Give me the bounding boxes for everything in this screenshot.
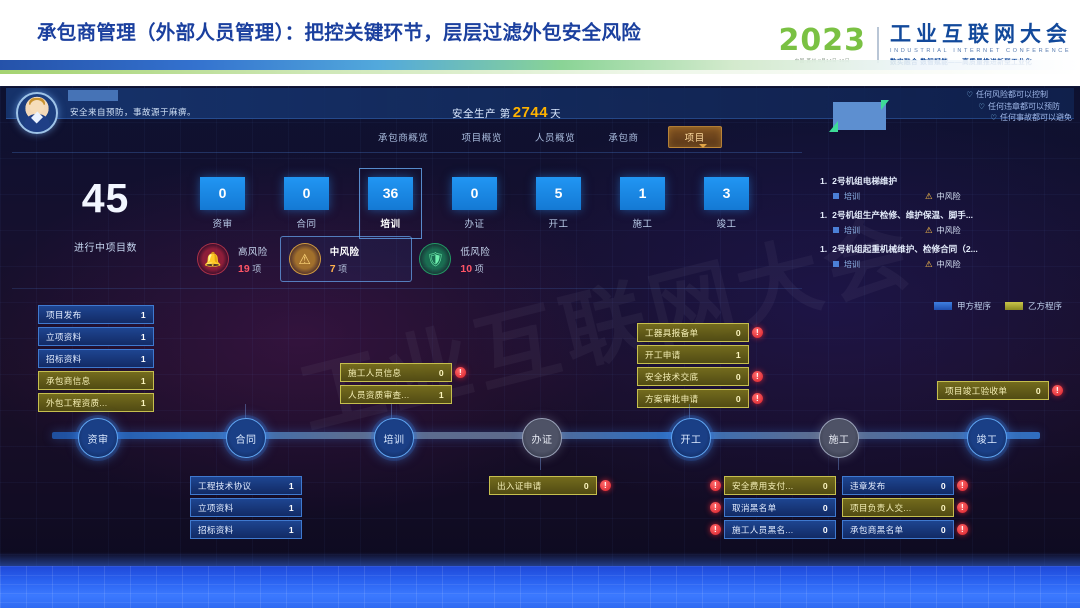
list-item-risk: ⚠中风险	[925, 259, 961, 270]
stage-label: 培训	[368, 216, 413, 230]
flow-card[interactable]: 外包工程资质...1	[38, 393, 154, 412]
flow-card[interactable]: 承包商信息1	[38, 371, 154, 390]
axis-tick	[838, 456, 839, 470]
legend-item-party-a: 甲方程序	[934, 300, 991, 312]
flow-col-left: 安全费用支付...0! 取消黑名单0! 施工人员黑名...0!	[724, 476, 836, 542]
tab-project-overview[interactable]: 项目概览	[458, 127, 506, 147]
flow-group-shenshen-above: 项目发布1 立项资料1 招标资料1 承包商信息1 外包工程资质...1	[38, 305, 154, 415]
alarm-bell-icon: 🔔	[197, 243, 229, 275]
flow-card[interactable]: 承包商黑名单0!	[842, 520, 954, 539]
risk-unit: 项	[338, 264, 347, 274]
warning-triangle-icon: ⚠	[925, 225, 933, 235]
axis-tick	[689, 404, 690, 418]
list-item-index: 1.	[820, 210, 827, 220]
header-slogan: 安全来自预防，事故源于麻痹。	[70, 106, 196, 118]
stage-value: 3	[704, 177, 749, 210]
flow-card[interactable]: 施工人员信息0!	[340, 363, 452, 382]
list-item-stage: 培训	[833, 191, 925, 202]
list-item-stage: 培训	[833, 259, 925, 270]
list-item-risk: ⚠中风险	[925, 191, 961, 202]
risk-label: 高风险	[238, 244, 268, 258]
safe-production-days: 2744	[511, 104, 550, 121]
stage-square-icon	[833, 261, 839, 267]
total-projects: 45 进行中项目数	[74, 178, 137, 254]
alert-badge[interactable]: !	[957, 480, 968, 491]
list-item-name: 2号机组生产检修、维护保温、脚手...	[832, 210, 973, 220]
flow-card[interactable]: 违章发布0!	[842, 476, 954, 495]
list-item-name: 2号机组起重机械维护、检修合同（2...	[832, 244, 978, 254]
flow-card[interactable]: 取消黑名单0!	[724, 498, 836, 517]
stage-value: 1	[620, 177, 665, 210]
tab-personnel-overview[interactable]: 人员概览	[531, 127, 579, 147]
stage-value: 36	[368, 177, 413, 210]
timeline-node-banzheng[interactable]: 办证	[522, 418, 562, 458]
flow-card[interactable]: 出入证申请0!	[489, 476, 597, 495]
logo-cn-name: 工业互联网大会	[890, 24, 1072, 45]
warning-triangle-icon: ⚠	[925, 191, 933, 201]
flow-card[interactable]: 招标资料1	[38, 349, 154, 368]
stage-square-icon	[833, 227, 839, 233]
flow-card[interactable]: 立项资料1	[38, 327, 154, 346]
tab-contractor[interactable]: 承包商	[604, 127, 642, 147]
flow-card[interactable]: 安全技术交底0!	[637, 367, 749, 386]
risk-card-low[interactable]: 🛡 低风险 10 项	[412, 238, 502, 280]
timeline-node-shenshen[interactable]: 资审	[78, 418, 118, 458]
tab-project[interactable]: 项目	[668, 126, 722, 148]
check-icon: ♡	[966, 90, 973, 99]
logo-divider	[877, 27, 879, 63]
risk-card-high[interactable]: 🔔 高风险 19 项	[190, 238, 280, 280]
risk-label: 中风险	[330, 244, 360, 258]
page-title: 承包商管理（外部人员管理）：把控关键环节，层层过滤外包安全风险	[37, 16, 641, 45]
alert-badge[interactable]: !	[1052, 385, 1063, 396]
header-name-placeholder	[68, 90, 118, 101]
timeline-node-shigong[interactable]: 施工	[819, 418, 859, 458]
logo-en-name: INDUSTRIAL INTERNET CONFERENCE	[890, 48, 1072, 54]
pledge-list: ♡任何风险都可以控制 ♡任何违章都可以预防 ♡任何事故都可以避免	[966, 89, 1072, 124]
stage-label: 合同	[284, 216, 329, 230]
flow-card[interactable]: 人员资质审查...1	[340, 385, 452, 404]
risk-label: 低风险	[460, 244, 490, 258]
flow-card[interactable]: 工器具报备单0!	[637, 323, 749, 342]
stage-label: 竣工	[704, 216, 749, 230]
stage-card-banzheng[interactable]: 0 办证	[452, 177, 497, 230]
flow-card[interactable]: 方案审批申请0!	[637, 389, 749, 408]
timeline-node-kaigong[interactable]: 开工	[671, 418, 711, 458]
flow-card[interactable]: 安全费用支付...0!	[724, 476, 836, 495]
stage-label: 资审	[200, 216, 245, 230]
flow-group-kaigong-above: 工器具报备单0! 开工申请1 安全技术交底0! 方案审批申请0!	[637, 323, 749, 411]
flow-legend: 甲方程序 乙方程序	[934, 300, 1062, 312]
pledge-label: 任何事故都可以避免	[1000, 113, 1072, 122]
list-item-name: 2号机组电梯维护	[832, 176, 897, 186]
check-icon: ♡	[990, 113, 997, 122]
legend-item-party-b: 乙方程序	[1005, 300, 1062, 312]
alert-badge[interactable]: !	[752, 327, 763, 338]
flow-card[interactable]: 项目竣工验收单0!	[937, 381, 1049, 400]
flow-card[interactable]: 立项资料1	[190, 498, 302, 517]
list-item-index: 1.	[820, 244, 827, 254]
flow-card[interactable]: 开工申请1	[637, 345, 749, 364]
flow-col-right: 违章发布0! 项目负责人交...0! 承包商黑名单0!	[842, 476, 954, 542]
risk-unit: 项	[475, 264, 484, 274]
safe-production-label: 安全生产	[452, 108, 496, 120]
header-gradient-rule-2	[0, 70, 1080, 74]
stage-card-peixun[interactable]: 36 培训	[368, 177, 413, 230]
list-item[interactable]: 1.2号机组起重机械维护、检修合同（2... 培训 ⚠中风险	[820, 243, 1072, 270]
risk-count: 10	[460, 263, 472, 275]
flow-card[interactable]: 施工人员黑名...0!	[724, 520, 836, 539]
stage-card-hetong[interactable]: 0 合同	[284, 177, 329, 230]
stage-card-shenshen[interactable]: 0 资审	[200, 177, 245, 230]
safe-production-prefix: 第	[500, 108, 511, 120]
total-projects-value: 45	[74, 178, 137, 218]
list-item[interactable]: 1.2号机组生产检修、维护保温、脚手... 培训 ⚠中风险	[820, 209, 1072, 236]
stage-square-icon	[833, 193, 839, 199]
list-item-stage: 培训	[833, 225, 925, 236]
safe-shield-icon: 🛡	[419, 243, 451, 275]
check-icon: ♡	[978, 102, 985, 111]
video-thumbnail[interactable]	[833, 102, 886, 130]
timeline-node-peixun[interactable]: 培训	[374, 418, 414, 458]
risk-unit: 项	[252, 264, 261, 274]
flow-group-banzheng-below: 出入证申请0!	[489, 476, 597, 498]
alert-badge[interactable]: !	[710, 480, 721, 491]
flow-card[interactable]: 招标资料1	[190, 520, 302, 539]
project-list: 1.2号机组电梯维护 培训 ⚠中风险 1.2号机组生产检修、维护保温、脚手...…	[820, 175, 1072, 277]
safe-production-counter: 安全生产 第2744天	[452, 104, 561, 121]
flow-group-hetong-below: 工程技术协议1 立项资料1 招标资料1	[190, 476, 302, 542]
stage-card-shigong[interactable]: 1 施工	[620, 177, 665, 230]
header-gradient-rule	[0, 60, 1080, 70]
alert-badge[interactable]: !	[710, 524, 721, 535]
alert-badge[interactable]: !	[455, 367, 466, 378]
stage-card-kaigong[interactable]: 5 开工	[536, 177, 581, 230]
axis-tick	[245, 404, 246, 418]
list-item[interactable]: 1.2号机组电梯维护 培训 ⚠中风险	[820, 175, 1072, 202]
stage-value: 5	[536, 177, 581, 210]
safe-production-unit: 天	[550, 108, 561, 120]
pledge-item: ♡任何事故都可以避免	[966, 112, 1072, 124]
axis-tick	[540, 456, 541, 470]
flow-card[interactable]: 项目发布1	[38, 305, 154, 324]
legend-swatch	[934, 302, 952, 310]
slide-header: 承包商管理（外部人员管理）：把控关键环节，层层过滤外包安全风险 2023 中国·…	[0, 0, 1080, 88]
total-projects-label: 进行中项目数	[74, 239, 137, 254]
slide-page: 承包商管理（外部人员管理）：把控关键环节，层层过滤外包安全风险 2023 中国·…	[0, 0, 1080, 608]
alert-badge[interactable]: !	[710, 502, 721, 513]
stage-stat-row: 0 资审 0 合同 36 培训 0 办证 5 开工 1 施工	[200, 177, 749, 230]
flow-group-shigong-below: 安全费用支付...0! 取消黑名单0! 施工人员黑名...0! 违章发布0! 项…	[724, 476, 954, 542]
floor-grid	[0, 566, 1080, 608]
stage-value: 0	[200, 177, 245, 210]
stage-label: 开工	[536, 216, 581, 230]
stage-value: 0	[284, 177, 329, 210]
pledge-item: ♡任何风险都可以控制	[966, 89, 1072, 101]
axis-tick	[391, 404, 392, 418]
timeline-node-jungong[interactable]: 竣工	[967, 418, 1007, 458]
flow-group-peixun-above: 施工人员信息0! 人员资质审查...1	[340, 363, 452, 407]
legend-swatch	[1005, 302, 1023, 310]
stage-value: 0	[452, 177, 497, 210]
list-item-index: 1.	[820, 176, 827, 186]
pledge-label: 任何风险都可以控制	[976, 90, 1048, 99]
logo-year: 2023	[779, 26, 867, 56]
timeline-node-hetong[interactable]: 合同	[226, 418, 266, 458]
list-item-risk: ⚠中风险	[925, 225, 961, 236]
alert-badge[interactable]: !	[752, 393, 763, 404]
flow-card[interactable]: 项目负责人交...0!	[842, 498, 954, 517]
pledge-item: ♡任何违章都可以预防	[966, 101, 1072, 113]
avatar	[16, 92, 58, 134]
alert-badge[interactable]: !	[957, 502, 968, 513]
nav-tabs: 承包商概览 项目概览 人员概览 承包商 项目	[374, 126, 722, 148]
risk-card-medium[interactable]: ⚠ 中风险 7 项	[280, 236, 413, 282]
alert-badge[interactable]: !	[752, 371, 763, 382]
warning-triangle-icon: ⚠	[925, 259, 933, 269]
flow-group-jungong-above: 项目竣工验收单0!	[937, 381, 1049, 403]
stage-label: 施工	[620, 216, 665, 230]
pledge-label: 任何违章都可以预防	[988, 102, 1060, 111]
kpi-panel: 45 进行中项目数 0 资审 0 合同 36 培训 0 办证 5 开工	[12, 152, 802, 289]
risk-count: 19	[238, 263, 250, 275]
stage-label: 办证	[452, 216, 497, 230]
alert-badge[interactable]: !	[957, 524, 968, 535]
flow-card[interactable]: 工程技术协议1	[190, 476, 302, 495]
tab-contractor-overview[interactable]: 承包商概览	[374, 127, 433, 147]
floor-glow	[0, 552, 1080, 566]
risk-summary-row: 🔔 高风险 19 项 ⚠ 中风险 7 项 🛡 低风险 10 项	[190, 236, 502, 282]
stage-card-jungong[interactable]: 3 竣工	[704, 177, 749, 230]
risk-count: 7	[330, 263, 336, 275]
alert-badge[interactable]: !	[600, 480, 611, 491]
warning-shield-icon: ⚠	[289, 243, 321, 275]
